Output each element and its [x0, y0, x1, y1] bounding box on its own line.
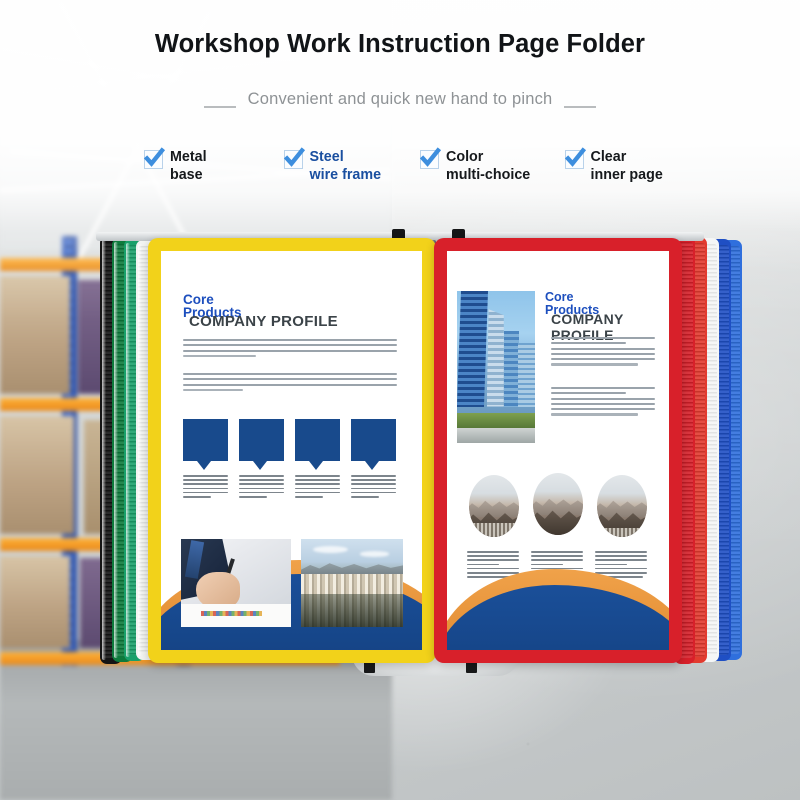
right-paragraph-2 [551, 387, 655, 419]
right-eyebrow-line1: Core [545, 291, 573, 304]
right-paragraph-1 [551, 337, 655, 369]
callout-caption [351, 475, 396, 500]
product-photo: Core Products COMPANY PROFILE [0, 0, 800, 800]
cityscape-aerial-photo [301, 539, 403, 627]
left-page-heading: COMPANY PROFILE [189, 313, 338, 330]
left-paragraph-2 [183, 373, 397, 394]
brochure-right-page: Core Products COMPANY PROFILE [447, 251, 669, 650]
callout-bubble [239, 419, 284, 461]
businessman-signing-document-photo [181, 539, 291, 627]
callout-caption [239, 475, 284, 500]
callout-bubble [295, 419, 340, 461]
callout-bubble [351, 419, 396, 461]
glass-skyscraper-photo [457, 291, 535, 443]
brochure-left-page: Core Products COMPANY PROFILE [161, 251, 422, 650]
callout-bubble [183, 419, 228, 461]
open-page-frame-red: Core Products COMPANY PROFILE [434, 238, 682, 663]
left-paragraph-1 [183, 339, 397, 360]
open-page-frame-yellow: Core Products COMPANY PROFILE [148, 238, 436, 663]
product-marketing-image: Workshop Work Instruction Page Folder Co… [0, 0, 800, 800]
right-page-wave-footer [447, 514, 669, 650]
callout-caption [295, 475, 340, 500]
callout-caption [183, 475, 228, 500]
